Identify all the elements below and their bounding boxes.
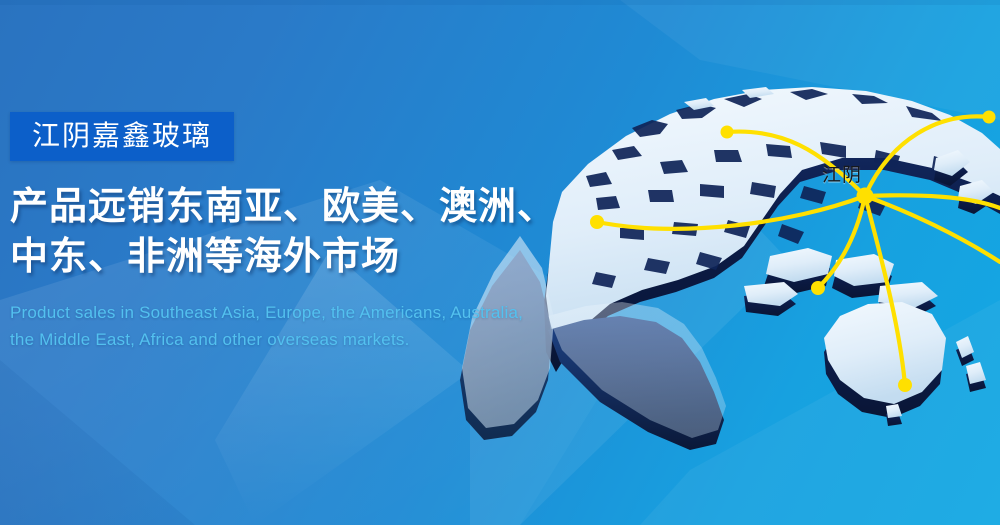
eurasia-detail-marks	[586, 89, 960, 288]
route-to-east-offscreen	[865, 196, 1000, 262]
banner-text-block: 江阴嘉鑫玻璃 产品远销东南亚、欧美、澳洲、 中东、非洲等海外市场 Product…	[10, 112, 610, 353]
route-to-southeast-asia	[818, 196, 865, 288]
map-city-label-jiangyin: 江阴	[822, 166, 862, 185]
route-to-americas	[597, 196, 865, 229]
trade-route-lines	[597, 116, 1000, 385]
far-east-islands	[934, 150, 994, 214]
node-far-east	[983, 111, 996, 124]
north-islands	[684, 87, 774, 110]
route-to-australia	[865, 196, 905, 385]
route-to-far-east	[865, 116, 989, 196]
banner-headline: 产品远销东南亚、欧美、澳洲、 中东、非洲等海外市场	[10, 183, 610, 282]
promo-banner: 江阴 江阴嘉鑫玻璃 产品远销东南亚、欧美、澳洲、 中东、非洲等海外市场 Prod…	[0, 0, 1000, 525]
route-to-europe	[727, 132, 865, 196]
node-europe	[721, 126, 734, 139]
trade-route-nodes	[590, 111, 996, 393]
eurasia-extrusion	[544, 95, 1000, 372]
node-australia	[898, 378, 912, 392]
australia-extrusion	[824, 316, 944, 418]
brand-badge: 江阴嘉鑫玻璃	[10, 112, 234, 161]
route-secondary-offscreen	[865, 195, 1000, 208]
node-hub-jiangyin	[857, 188, 874, 205]
eurasia-surface	[546, 87, 1000, 344]
node-southeast-asia	[811, 281, 825, 295]
australia-surface	[824, 302, 946, 404]
banner-subtitle: Product sales in Southeast Asia, Europe,…	[10, 300, 610, 353]
southeast-asia-islands	[744, 248, 938, 318]
